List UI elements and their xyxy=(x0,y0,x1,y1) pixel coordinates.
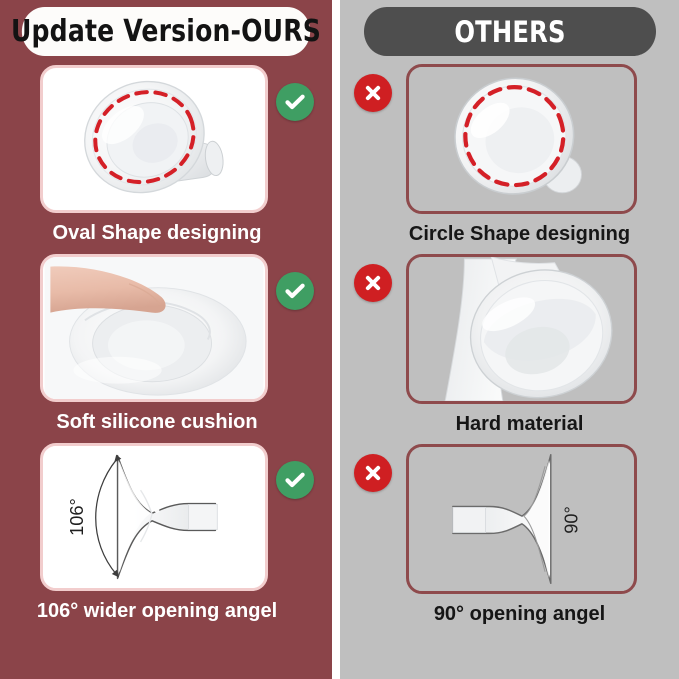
ours-caption-opening-angle: 106° wider opening angel xyxy=(37,600,277,623)
ours-row-oval-shape: Oval Shape designing xyxy=(0,65,332,245)
ours-caption-oval-shape: Oval Shape designing xyxy=(53,222,262,245)
check-circle-icon xyxy=(276,83,314,121)
ours-column: Update Version-OURS xyxy=(0,0,332,679)
others-card-opening-angle: 90° xyxy=(406,444,637,594)
flange-angle-diagram: 106° xyxy=(43,446,265,588)
finger-pressing-silicone-cushion-photo xyxy=(43,257,265,399)
others-caption-opening-angle: 90° opening angel xyxy=(434,603,605,626)
others-angle-label: 90° xyxy=(561,506,582,534)
others-row-hard-material: Hard material xyxy=(340,254,679,436)
others-column: OTHERS xyxy=(340,0,679,679)
ours-header-pill: Update Version-OURS xyxy=(22,7,310,56)
ours-row-soft-cushion: Soft silicone cushion xyxy=(0,254,332,434)
flange-angle-diagram: 90° xyxy=(409,447,634,591)
x-circle-icon xyxy=(354,264,392,302)
others-header-pill: OTHERS xyxy=(363,7,655,56)
others-card-circle-shape xyxy=(406,64,637,214)
ours-angle-label: 106° xyxy=(67,498,87,536)
check-circle-icon xyxy=(276,461,314,499)
x-circle-icon xyxy=(354,74,392,112)
others-row-circle-shape: Circle Shape designing xyxy=(340,64,679,246)
ours-card-oval-shape xyxy=(40,65,268,213)
ours-card-opening-angle: 106° xyxy=(40,443,268,591)
comparison-infographic: Update Version-OURS xyxy=(0,0,679,679)
x-circle-icon xyxy=(354,454,392,492)
others-row-opening-angle: 90° 90° opening angel xyxy=(340,444,679,626)
ours-row-opening-angle: 106° 106° wider opening angel xyxy=(0,443,332,623)
check-circle-icon xyxy=(276,272,314,310)
circle-flange-photo xyxy=(409,67,634,211)
ours-card-soft-cushion xyxy=(40,254,268,402)
ours-caption-soft-cushion: Soft silicone cushion xyxy=(56,411,257,434)
column-divider xyxy=(332,0,340,679)
others-caption-hard-material: Hard material xyxy=(456,413,584,436)
others-card-hard-material xyxy=(406,254,637,404)
hard-plastic-flange-photo xyxy=(409,257,634,401)
others-caption-circle-shape: Circle Shape designing xyxy=(409,223,630,246)
oval-flange-photo xyxy=(43,68,265,210)
